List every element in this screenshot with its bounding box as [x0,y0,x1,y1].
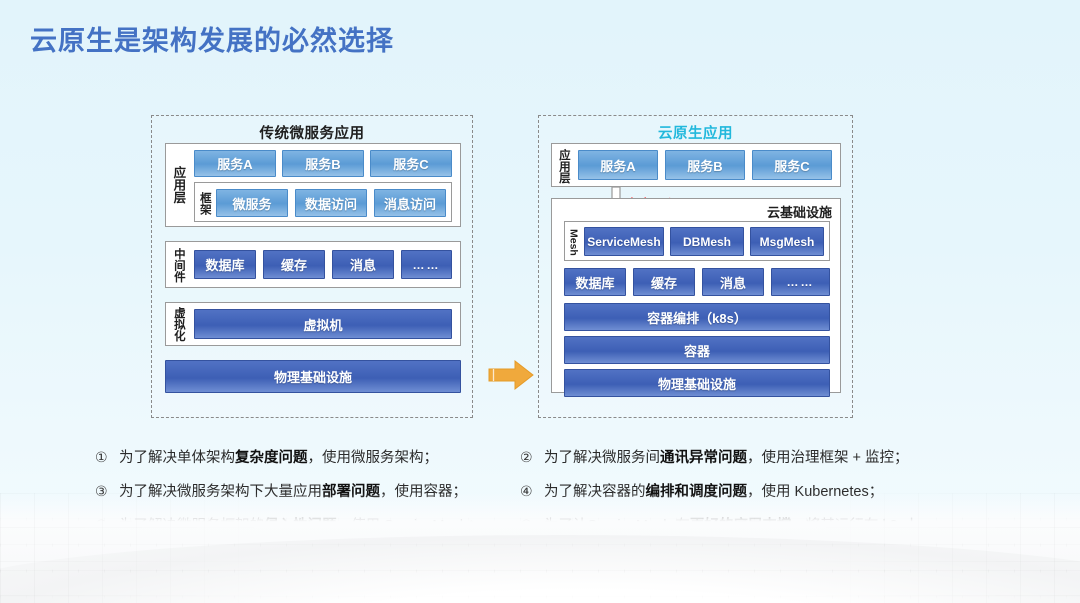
middleware-message-box[interactable]: 消息 [332,250,394,279]
container-box[interactable]: 容器 [564,336,830,364]
cloud-database-box[interactable]: 数据库 [564,268,626,296]
bullet-text: 为了解决单体架构复杂度问题，使用微服务架构； [119,446,438,467]
cloud-more-box[interactable]: …… [771,268,830,296]
bullet-number: ② [520,449,544,466]
framework-microservice-box[interactable]: 微服务 [216,189,288,217]
left-application-layer-group: 应用层 服务A 服务B 服务C 框架 微服务 数据访问 消息访问 [165,143,461,227]
mesh-side-label: Mesh [566,226,580,258]
cloud-message-box[interactable]: 消息 [702,268,764,296]
bullet-number: ① [95,449,119,466]
cloud-service-a-box[interactable]: 服务A [578,150,658,180]
cloud-service-c-box[interactable]: 服务C [752,150,832,180]
left-physical-infrastructure-box[interactable]: 物理基础设施 [165,360,461,393]
traditional-microservice-panel: 传统微服务应用 应用层 服务A 服务B 服务C 框架 微服务 数据访问 消息访问… [151,115,473,418]
cloud-cache-box[interactable]: 缓存 [633,268,695,296]
architecture-diagram: 传统微服务应用 应用层 服务A 服务B 服务C 框架 微服务 数据访问 消息访问… [0,108,1080,418]
middleware-cache-box[interactable]: 缓存 [263,250,325,279]
right-panel-title: 云原生应用 [539,122,852,143]
framework-data-access-box[interactable]: 数据访问 [295,189,367,217]
page-title: 云原生是架构发展的必然选择 [30,19,394,58]
footer-block-pattern [0,493,1080,603]
service-b-box[interactable]: 服务B [282,150,364,177]
cloud-service-b-box[interactable]: 服务B [665,150,745,180]
right-app-layer-side-label: 应用层 [555,148,571,184]
container-orchestration-box[interactable]: 容器编排（k8s） [564,303,830,331]
framework-group: 框架 微服务 数据访问 消息访问 [194,182,452,222]
service-a-box[interactable]: 服务A [194,150,276,177]
bullet-item: ①为了解决单体架构复杂度问题，使用微服务架构； [95,446,525,480]
left-app-layer-side-label: 应用层 [169,152,187,218]
middleware-more-box[interactable]: …… [401,250,452,279]
cloud-native-panel: 云原生应用 应用层 服务A 服务B 服务C 框架下沉 云基础设施 Mesh Se… [538,115,853,418]
cloud-infrastructure-group: 云基础设施 Mesh ServiceMesh DBMesh MsgMesh 数据… [551,198,841,393]
left-panel-title: 传统微服务应用 [152,122,472,143]
cloud-physical-infrastructure-box[interactable]: 物理基础设施 [564,369,830,397]
service-c-box[interactable]: 服务C [370,150,452,177]
decorative-footer-graphic [0,493,1080,603]
arrow-right-icon [487,358,535,392]
service-mesh-box[interactable]: ServiceMesh [584,227,664,256]
bullet-text: 为了解决微服务间通讯异常问题，使用治理框架 + 监控； [544,446,909,467]
middleware-side-label: 中间件 [169,246,187,285]
db-mesh-box[interactable]: DBMesh [670,227,744,256]
msg-mesh-box[interactable]: MsgMesh [750,227,824,256]
cloud-infrastructure-label: 云基础设施 [767,202,832,221]
mesh-group: Mesh ServiceMesh DBMesh MsgMesh [564,221,830,261]
left-virtualization-group: 虚拟化 虚拟机 [165,302,461,346]
right-application-layer-group: 应用层 服务A 服务B 服务C [551,143,841,187]
bullet-item: ②为了解决微服务间通讯异常问题，使用治理框架 + 监控； [520,446,990,480]
framework-message-access-box[interactable]: 消息访问 [374,189,446,217]
middleware-database-box[interactable]: 数据库 [194,250,256,279]
framework-side-label: 框架 [197,187,211,219]
virtual-machine-box[interactable]: 虚拟机 [194,309,452,339]
virtualization-side-label: 虚拟化 [169,306,187,343]
left-middleware-group: 中间件 数据库 缓存 消息 …… [165,241,461,288]
